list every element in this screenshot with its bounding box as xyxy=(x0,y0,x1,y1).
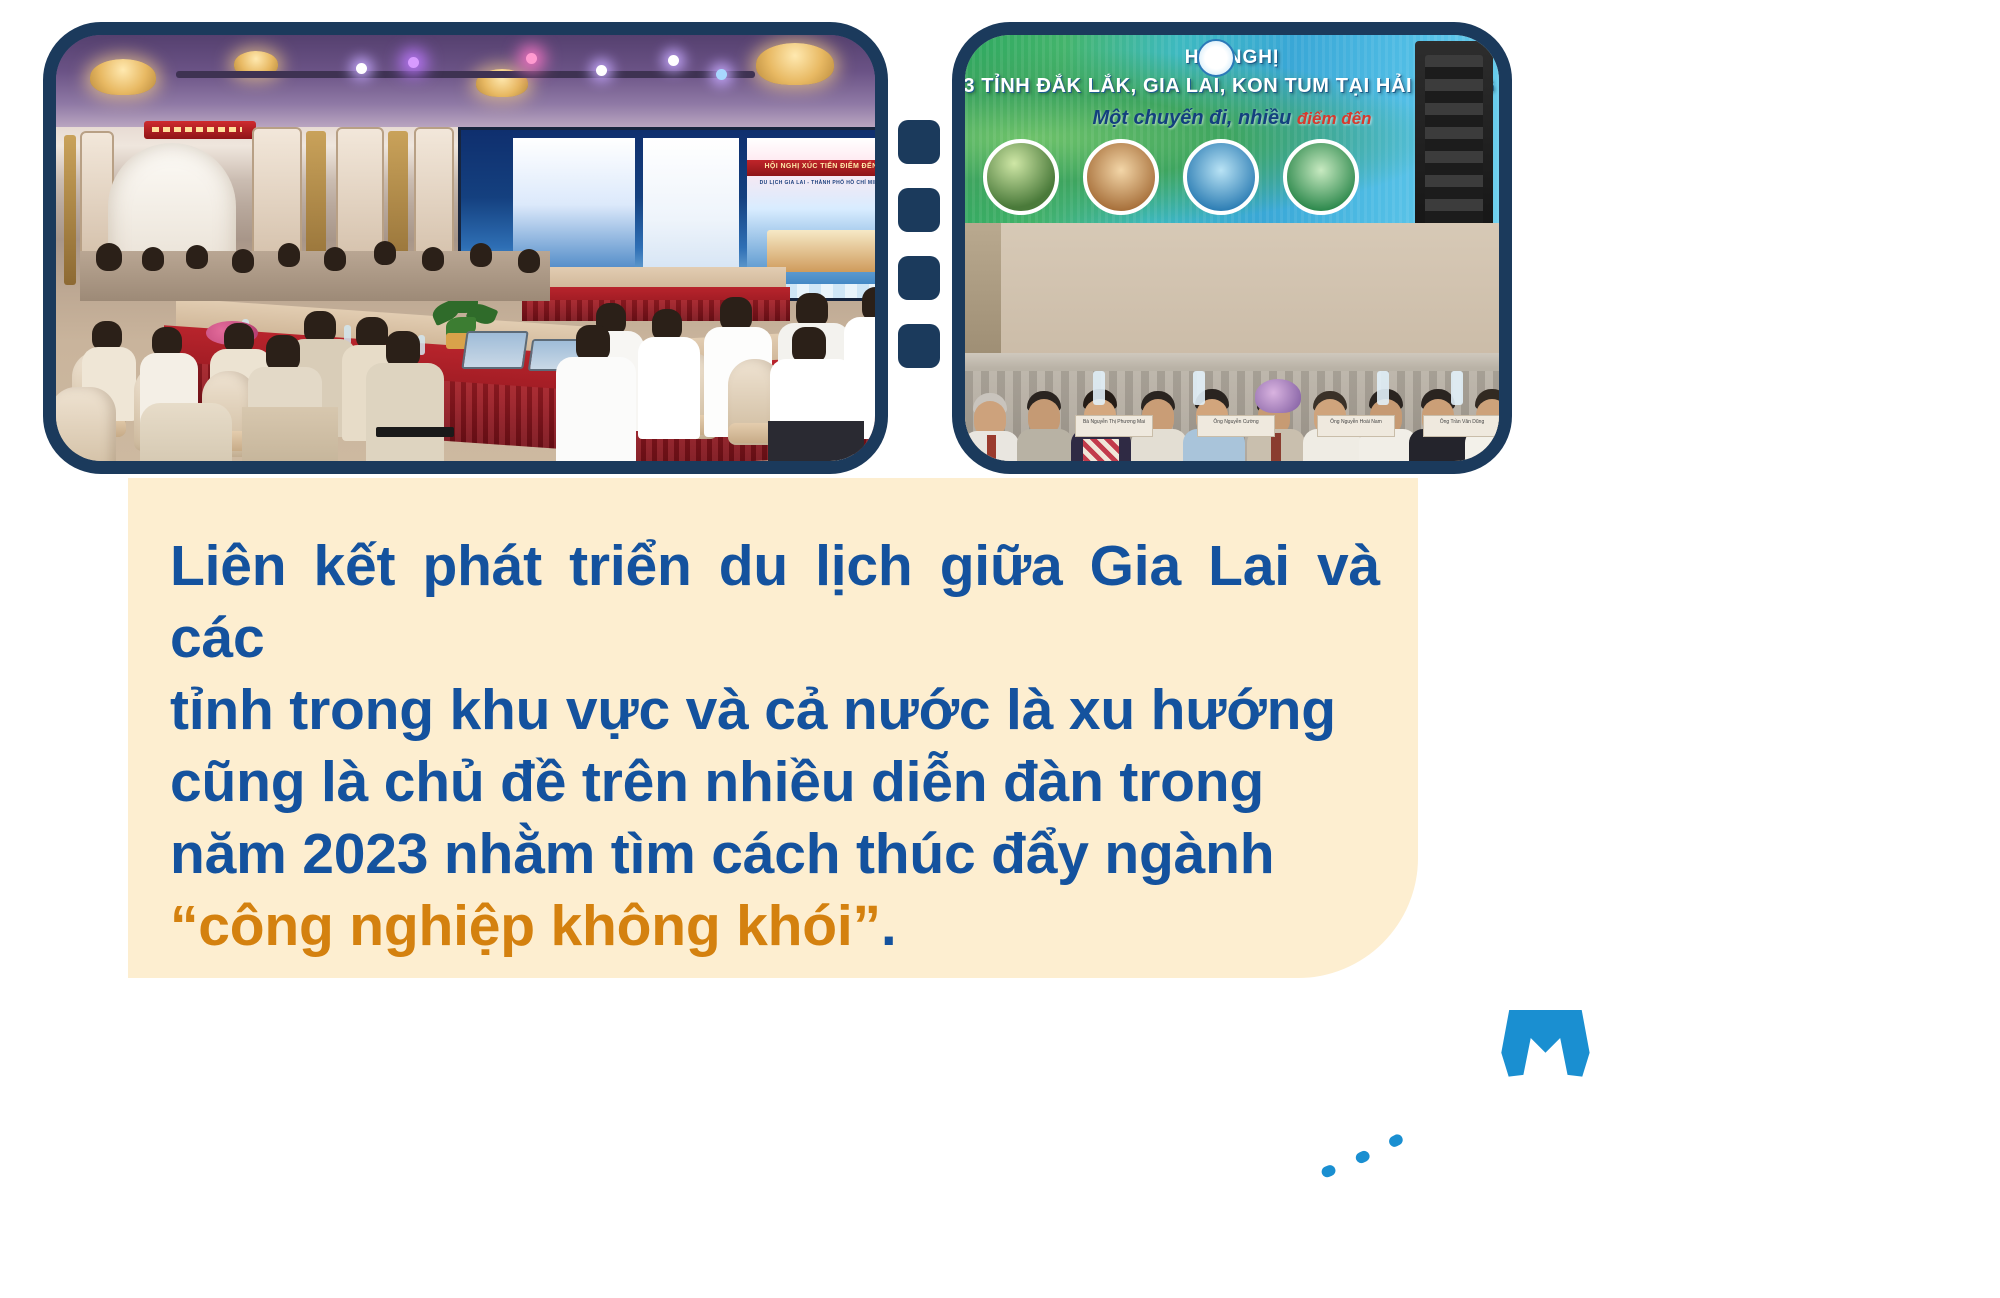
lighting-truss xyxy=(176,71,755,78)
water-bottle-icon xyxy=(1377,371,1389,405)
quote-highlight: “công nghiệp không khói” xyxy=(170,894,881,958)
banner-logo-badge xyxy=(1197,39,1235,77)
infographic-stage: HỘI NGHỊ XÚC TIẾN ĐIỂM ĐẾN DU LỊCH GIA L… xyxy=(0,0,2000,1298)
quote-line-3: cũng là chủ đề trên nhiều diễn đàn trong xyxy=(170,746,1380,818)
stage-light-icon xyxy=(716,69,727,80)
conference-hall-photo: HỘI NGHỊ XÚC TIẾN ĐIỂM ĐẾN DU LỊCH GIA L… xyxy=(43,22,888,474)
led-headline: HỘI NGHỊ XÚC TIẾN ĐIỂM ĐẾN xyxy=(747,163,875,170)
ceiling xyxy=(56,35,875,127)
led-photo-thumb xyxy=(767,230,875,272)
name-card: Ông Nguyễn Hoài Nam xyxy=(1317,415,1395,437)
led-subline: DU LỊCH GIA LAI - THÀNH PHỐ HỒ CHÍ MINH xyxy=(747,180,875,186)
banner-line-3-accent: điểm đến xyxy=(1297,109,1372,128)
quote-line-5: “công nghiệp không khói”. xyxy=(170,890,1380,962)
orchid-vase-icon xyxy=(1255,379,1301,413)
laptop-icon xyxy=(461,331,528,369)
quote-period: . xyxy=(881,894,897,958)
quote-line-1: Liên kết phát triển du lịch giữa Gia Lai… xyxy=(170,530,1380,674)
trousers xyxy=(768,421,864,461)
group-photo: HỘI NGHỊ 3 TỈNH ĐẮK LẮK, GIA LAI, KON TU… xyxy=(952,22,1512,474)
banner-photo-circle xyxy=(1083,139,1159,215)
led-red-banner: HỘI NGHỊ XÚC TIẾN ĐIỂM ĐẾN xyxy=(747,160,875,176)
speaker-icon xyxy=(1415,41,1493,241)
airplane-decoration xyxy=(1320,1010,1980,1280)
wall-column xyxy=(965,223,1001,363)
chandelier-icon xyxy=(90,59,156,95)
wall-trim xyxy=(64,135,76,285)
stage-light-icon xyxy=(668,55,679,66)
seated-person-lower xyxy=(242,407,338,461)
banner-line-3-plain: Một chuyến đi, nhiều xyxy=(1092,107,1296,129)
quote-line-2: tỉnh trong khu vực và cả nước là xu hướn… xyxy=(170,674,1380,746)
dotted-flight-trail-icon xyxy=(1320,1115,1415,1213)
water-bottle-icon xyxy=(1193,371,1205,405)
banner-photo-circle xyxy=(983,139,1059,215)
led-sub-panel: HỘI NGHỊ XÚC TIẾN ĐIỂM ĐẾN DU LỊCH GIA L… xyxy=(747,138,875,286)
chandelier-icon xyxy=(756,43,834,85)
water-bottle-icon xyxy=(1451,371,1463,405)
chair-back-foreground xyxy=(140,403,232,461)
red-signboard xyxy=(144,121,256,139)
belt xyxy=(376,427,454,437)
stage-light-icon xyxy=(526,53,537,64)
stage-light-icon xyxy=(408,57,419,68)
stage-light-icon xyxy=(596,65,607,76)
chair xyxy=(56,387,116,461)
name-card: Bà Nguyễn Thị Phương Mai xyxy=(1075,415,1153,437)
banner-photo-circle xyxy=(1283,139,1359,215)
quote-text: Liên kết phát triển du lịch giữa Gia Lai… xyxy=(170,530,1380,962)
water-bottle-icon xyxy=(1093,371,1105,405)
photo-connector-dots-icon xyxy=(898,120,940,370)
name-card: Ông Trần Văn Dũng xyxy=(1423,415,1499,437)
quote-line-4: năm 2023 nhằm tìm cách thúc đẩy ngành xyxy=(170,818,1380,890)
banner-photo-circle xyxy=(1183,139,1259,215)
stage-light-icon xyxy=(356,63,367,74)
airplane-icon xyxy=(1378,1010,1714,1150)
name-card: Ông Nguyễn Cường xyxy=(1197,415,1275,437)
led-sub-panel xyxy=(643,138,739,286)
